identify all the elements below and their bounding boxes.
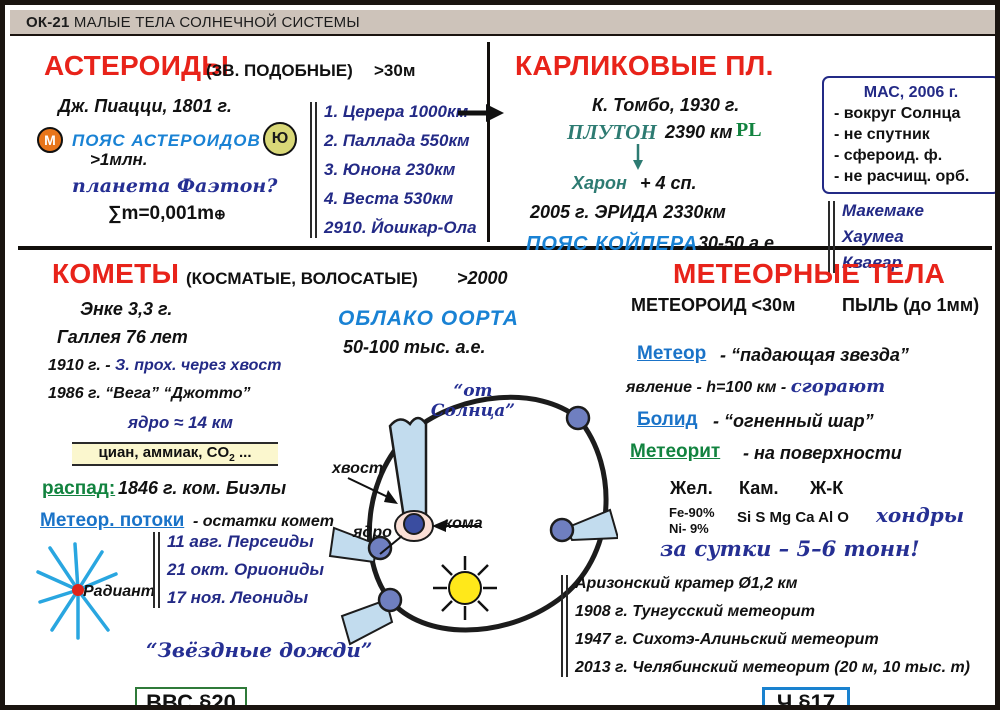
halley-text: Галлея 76 лет <box>57 328 188 346</box>
comet-body <box>567 407 589 429</box>
comets-title: КОМЕТЫ <box>52 260 179 288</box>
comet-nucleus-size: ядро ≈ 14 км <box>128 414 233 431</box>
iau-criterion: - не спутник <box>824 126 998 144</box>
pluto-symbol-icon: PL <box>736 120 762 140</box>
list-item: Макемаке <box>828 201 924 221</box>
iau-criterion: - сфероид. ф. <box>824 147 998 165</box>
iron-ni: Ni- 9% <box>669 522 709 535</box>
charon-label: Харон <box>572 174 627 192</box>
asteroid-belt-label: ПОЯС АСТЕРОИДОВ <box>72 132 261 149</box>
pluto-size: 2390 км <box>665 123 732 141</box>
coma-label: кома <box>444 516 483 532</box>
eris-text: 2005 г. ЭРИДА 2330км <box>530 203 726 221</box>
comets-subtitle: (КОСМАТЫЕ, ВОЛОСАТЫЕ) <box>186 270 418 287</box>
meteorite-events-list: Аризонский кратер Ø1,2 км 1908 г. Тунгус… <box>561 575 970 677</box>
vertical-divider <box>487 42 490 242</box>
asteroids-subtitle: (ЗВ. ПОДОБНЫЕ) <box>206 62 353 79</box>
reference-box-left: ВВС §20 <box>135 687 247 710</box>
meteorite-label: Метеорит <box>630 442 720 461</box>
meteor-phenomenon-line: явление - h=100 км - сгорают <box>626 378 885 396</box>
asteroids-size: >30м <box>374 62 415 79</box>
sun-icon <box>433 556 497 620</box>
iau-title: МАС, 2006 г. <box>824 84 998 102</box>
decay-label: распад: <box>42 479 115 498</box>
poster-root: ОК-21 МАЛЫЕ ТЕЛА СОЛНЕЧНОЙ СИСТЕМЫ АСТЕР… <box>0 0 1000 710</box>
comet-nucleus <box>404 514 424 534</box>
comet-tail <box>566 510 618 540</box>
list-item: 17 ноя. Леониды <box>153 588 324 608</box>
stone-elements: Si S Mg Ca Al O <box>737 510 849 525</box>
tail-label: хвост <box>332 461 383 477</box>
comet-body <box>551 519 573 541</box>
header-code: ОК-21 <box>26 14 70 31</box>
streams-label: Метеор. потоки <box>40 511 184 530</box>
list-item: Хаумеа <box>828 227 924 247</box>
charon-arrow-icon <box>630 144 646 170</box>
meteor-burn-text: сгорают <box>791 376 885 397</box>
asteroids-discoverer: Дж. Пиацци, 1801 г. <box>58 97 232 115</box>
year-1910-prefix: 1910 г. - <box>48 357 115 374</box>
meteor-text: - “падающая звезда” <box>720 346 909 364</box>
year-1986-text: 1986 г. “Вега” “Джотто” <box>48 386 251 402</box>
mars-symbol-circle: М <box>37 127 63 153</box>
meteoroid-text: МЕТЕОРОИД <30м <box>631 296 795 314</box>
chondrules-text: хондры <box>876 505 964 525</box>
chem-tail: ... <box>235 444 252 461</box>
iau-criterion: - вокруг Солнца <box>824 105 998 123</box>
nucleus-label: ядро <box>353 525 392 541</box>
list-item: 2013 г. Челябинский метеорит (20 м, 10 т… <box>561 659 970 677</box>
list-item: 1908 г. Тунгусский метеорит <box>561 603 970 621</box>
comet-body <box>379 589 401 611</box>
asteroid-list: 1. Церера 1000км 2. Паллада 550км 3. Юно… <box>310 102 477 238</box>
streams-text: - остатки комет <box>193 514 334 530</box>
list-item: 1. Церера 1000км <box>310 102 477 122</box>
encke-text: Энке 3,3 г. <box>80 300 172 318</box>
list-item: 3. Юнона 230км <box>310 160 477 180</box>
jupiter-symbol-label: Ю <box>272 130 289 148</box>
content-panel: АСТЕРОИДЫ (ЗВ. ПОДОБНЫЕ) >30м Дж. Пиацци… <box>10 38 1000 710</box>
iau-criterion: - не расчищ. орб. <box>824 168 998 186</box>
radiant-label: Радиант <box>83 584 155 600</box>
header-title: МАЛЫЕ ТЕЛА СОЛНЕЧНОЙ СИСТЕМЫ <box>74 14 360 31</box>
jupiter-symbol-circle: Ю <box>263 122 297 156</box>
meteorite-type-stone: Кам. <box>739 479 779 497</box>
iron-fe: Fe-90% <box>669 506 715 519</box>
year-1910-line: 1910 г. - З. прох. через хвост <box>48 358 281 374</box>
meteor-phenomenon-text: явление - h=100 км - <box>626 379 791 396</box>
comet-composition-text: циан, аммиак, CO2 ... <box>99 444 252 464</box>
asteroids-title: АСТЕРОИДЫ <box>44 52 229 80</box>
bolide-text: - “огненный шар” <box>713 412 874 430</box>
dust-text: ПЫЛЬ (до 1мм) <box>842 296 979 314</box>
meteor-label: Метеор <box>637 344 706 363</box>
meteorite-type-stonyiron: Ж-К <box>810 479 843 497</box>
bolide-label: Болид <box>637 410 698 429</box>
mars-symbol-label: М <box>44 132 56 148</box>
dwarf-title: КАРЛИКОВЫЕ ПЛ. <box>515 52 774 80</box>
meteorite-text: - на поверхности <box>743 444 902 462</box>
meteorite-type-iron: Жел. <box>670 479 713 497</box>
from-sun-label: “от Солнца” <box>430 382 516 421</box>
kuiper-label: ПОЯС КОЙПЕРА <box>526 234 698 254</box>
ceres-arrow-icon <box>458 100 504 126</box>
header-text: ОК-21 МАЛЫЕ ТЕЛА СОЛНЕЧНОЙ СИСТЕМЫ <box>10 14 360 31</box>
meteor-showers-list: 11 авг. Персеиды 21 окт. Ориониды 17 ноя… <box>153 532 324 608</box>
year-1910-text: З. прох. через хвост <box>115 357 281 374</box>
list-item: 1947 г. Сихотэ-Алиньский метеорит <box>561 631 970 649</box>
list-item: Аризонский кратер Ø1,2 км <box>561 575 970 593</box>
tombaugh-text: К. Томбо, 1930 г. <box>592 96 739 114</box>
list-item: 21 окт. Ориониды <box>153 560 324 580</box>
list-item: 4. Веста 530км <box>310 189 477 209</box>
list-item: 11 авг. Персеиды <box>153 532 324 552</box>
reference-box-right: Ч §17 <box>762 687 850 710</box>
asteroid-mass-sub: ⊕ <box>214 206 226 222</box>
comets-count: >2000 <box>457 269 508 287</box>
oort-title: ОБЛАКО ООРТА <box>338 308 519 329</box>
asteroid-belt-count: >1млн. <box>90 151 148 168</box>
header-bar: ОК-21 МАЛЫЕ ТЕЛА СОЛНЕЧНОЙ СИСТЕМЫ <box>10 10 1000 36</box>
list-item: 2910. Йошкар-Ола <box>310 218 477 238</box>
per-day-text: за сутки – 5–6 тонн! <box>660 538 920 559</box>
asteroid-mass-text: ∑m=0,001m <box>108 203 214 224</box>
comet-composition-box: циан, аммиак, CO2 ... <box>72 442 278 466</box>
chem-main: циан, аммиак, CO <box>99 444 230 461</box>
meteors-title: МЕТЕОРНЫЕ ТЕЛА <box>673 260 945 288</box>
list-item: 2. Паллада 550км <box>310 131 477 151</box>
iau-criteria-box: МАС, 2006 г. - вокруг Солнца - не спутни… <box>822 76 1000 194</box>
phaeton-text: планета Фаэтон? <box>72 177 277 196</box>
pluto-label: ПЛУТОН <box>567 122 657 143</box>
kuiper-range: 30-50 а.е. <box>698 234 779 252</box>
asteroid-mass: ∑m=0,001m⊕ <box>108 204 226 223</box>
decay-text: 1846 г. ком. Биэлы <box>118 479 286 497</box>
charon-moons: + 4 сп. <box>640 174 697 192</box>
oort-distance: 50-100 тыс. а.е. <box>343 338 485 356</box>
